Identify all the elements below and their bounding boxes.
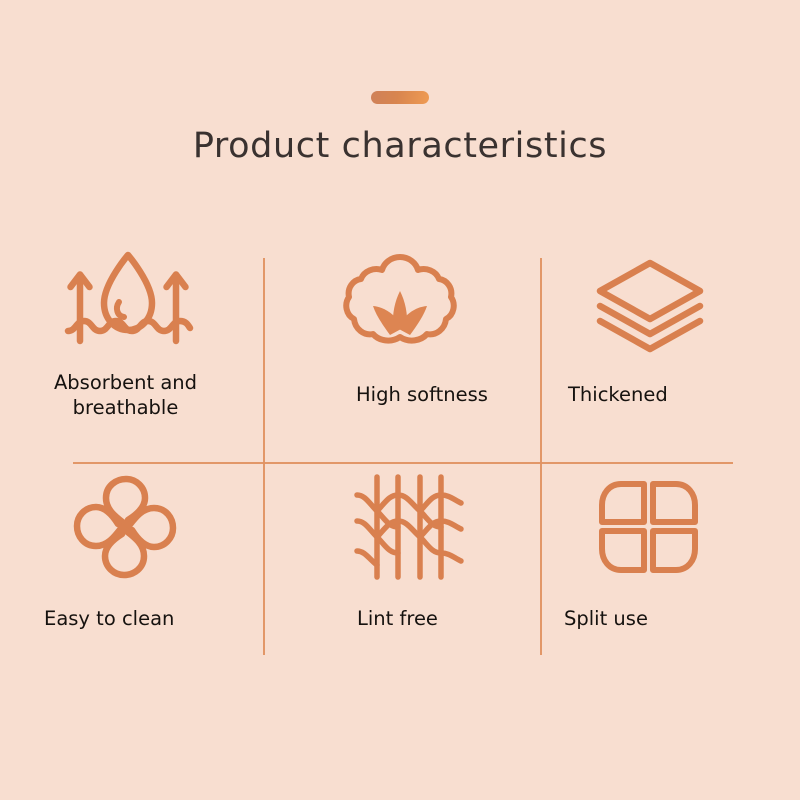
feature-label: Easy to clean [0,606,263,631]
feature-item-absorbent-breathable: Absorbent and breathable [0,240,263,462]
feature-item-split-use: Split use [540,462,800,662]
icon-container [0,240,263,362]
header: Product characteristics [0,0,800,166]
woven-fabric-icon [355,473,463,581]
product-characteristics-infographic: Product characteristics [0,0,800,800]
feature-item-high-softness: High softness [263,240,540,462]
icon-container [263,462,540,592]
icon-container [263,240,540,362]
four-petal-clover-icon [596,474,702,580]
icon-container [540,240,800,362]
feature-label: Split use [540,606,800,631]
icon-container [0,462,263,592]
page-title: Product characteristics [0,126,800,166]
feature-item-thickened: Thickened [540,240,800,462]
layers-stack-icon [592,253,708,349]
cotton-boll-icon [341,247,459,355]
feature-label: Lint free [263,606,540,631]
feature-label: Absorbent and breathable [0,370,203,420]
feature-item-easy-to-clean: Easy to clean [0,462,263,662]
feature-label: Thickened [540,382,800,407]
feature-label: High softness [263,382,540,407]
feature-item-lint-free: Lint free [263,462,540,662]
title-accent-pill [371,91,429,104]
pinwheel-flower-icon [70,472,180,582]
water-droplet-arrows-icon [62,245,194,357]
feature-grid: Absorbent and breathable High softness [0,240,800,662]
icon-container [540,462,800,592]
